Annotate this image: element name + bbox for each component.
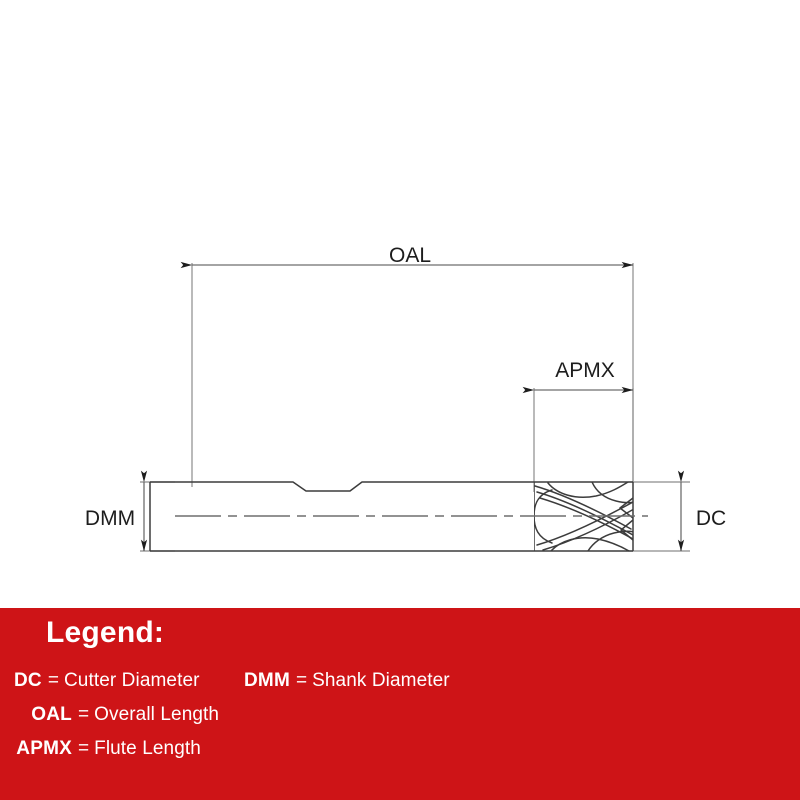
legend-desc-dmm: Shank Diameter: [312, 670, 450, 692]
helix-edge-2b: [543, 509, 634, 550]
legend-abbr-dc: DC: [14, 670, 42, 692]
legend-entry-apmx: APMX = Flute Length: [0, 738, 201, 760]
helix-edge-1b: [537, 492, 633, 535]
diagram-area: OAL APMX DMM DC: [0, 0, 800, 608]
dimension-label-dc: DC: [696, 507, 726, 530]
legend-abbr-dmm: DMM: [244, 670, 290, 692]
legend-desc-apmx: Flute Length: [94, 738, 201, 760]
end-mill-technical-drawing: OAL APMX DMM DC: [0, 0, 800, 608]
dimension-label-apmx: APMX: [555, 359, 615, 382]
legend-entry-oal: OAL = Overall Length: [0, 704, 219, 726]
helix-edge-1: [535, 486, 631, 529]
legend-desc-dc: Cutter Diameter: [64, 670, 200, 692]
legend-entry-dmm: DMM = Shank Diameter: [244, 670, 450, 692]
legend-rows: DC = Cutter Diameter DMM = Shank Diamete…: [0, 670, 800, 772]
legend-desc-oal: Overall Length: [94, 704, 219, 726]
dimension-label-dmm: DMM: [85, 507, 135, 530]
dimension-label-oal: OAL: [389, 244, 431, 267]
legend-equals: =: [72, 738, 94, 760]
legend-abbr-apmx: APMX: [0, 738, 72, 760]
legend-equals: =: [72, 704, 94, 726]
legend-row: DC = Cutter Diameter DMM = Shank Diamete…: [0, 670, 800, 704]
extension-lines: [140, 263, 690, 551]
legend-equals: =: [290, 670, 312, 692]
shank-top-profile: [150, 482, 633, 491]
dimension-lines: [144, 265, 681, 551]
dimension-labels: OAL APMX DMM DC: [85, 244, 726, 530]
legend-equals: =: [42, 670, 64, 692]
legend-entry-dc: DC = Cutter Diameter: [0, 670, 244, 692]
legend-abbr-oal: OAL: [0, 704, 72, 726]
legend-row: OAL = Overall Length: [0, 704, 800, 738]
flute-gash-top-2: [592, 482, 634, 503]
legend-title: Legend:: [46, 616, 164, 650]
helix-edge-2: [537, 502, 633, 545]
legend-panel: Legend: DC = Cutter Diameter DMM = Shank…: [0, 608, 800, 800]
legend-row: APMX = Flute Length: [0, 738, 800, 772]
